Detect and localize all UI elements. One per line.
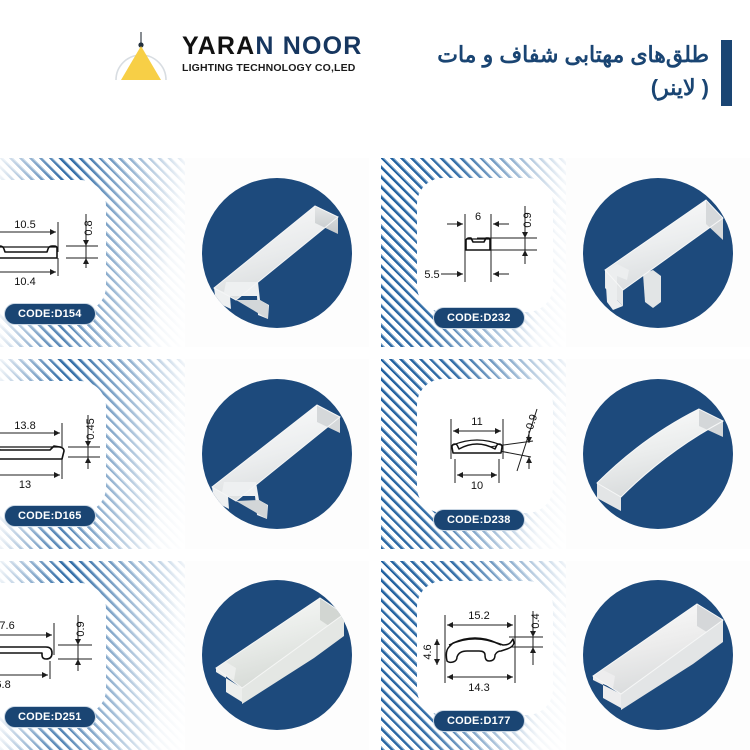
stripe-background: 17.6 16.8 0.9 CODE:D251 <box>0 561 185 750</box>
code-badge-d232: CODE:D232 <box>433 307 525 329</box>
product-photo-d165 <box>185 359 370 548</box>
dim-bottom-label: 10.4 <box>14 276 35 288</box>
page-header: YARAN NOOR LIGHTING TECHNOLOGY CO,LED طل… <box>0 0 750 150</box>
dim-top-label: 6 <box>475 211 481 223</box>
product-catalog-page: YARAN NOOR LIGHTING TECHNOLOGY CO,LED طل… <box>0 0 750 750</box>
dim-bottom-label: 16.8 <box>0 679 11 691</box>
product-card-d154[interactable]: 10.5 10.4 0.8 CODE:D154 <box>0 158 369 347</box>
dim-top-label: 10.5 <box>14 219 35 231</box>
dim-right-label: 0.9 <box>522 212 534 227</box>
code-badge-d165: CODE:D165 <box>4 505 96 527</box>
technical-drawing-d165: 13.8 13 0.45 <box>0 381 106 513</box>
dim-bottom-label: 10 <box>471 480 483 492</box>
dim-right-label: 0.45 <box>85 419 97 440</box>
dim-right-label: 0.8 <box>83 220 95 235</box>
brand-text: YARAN NOOR LIGHTING TECHNOLOGY CO,LED <box>182 34 363 74</box>
code-badge-d251: CODE:D251 <box>4 706 96 728</box>
technical-drawing-d232: 6 5.5 0.9 <box>417 178 553 312</box>
dim-left-label: 4.6 <box>422 644 434 659</box>
technical-drawing-d238: 11 10 0.9 <box>417 379 553 513</box>
code-badge-d177: CODE:D177 <box>433 710 525 732</box>
photo-circle <box>583 580 733 730</box>
product-photo-d238 <box>566 359 750 548</box>
product-card-d238[interactable]: 11 10 0.9 CODE:D238 <box>381 359 750 548</box>
photo-circle <box>583 379 733 529</box>
page-title-line1: طلق‌های مهتابی شفاف و مات <box>437 38 709 71</box>
photo-circle <box>583 178 733 328</box>
product-card-d232[interactable]: 6 5.5 0.9 CODE:D232 <box>381 158 750 347</box>
dim-bottom-label: 14.3 <box>468 682 489 694</box>
page-title: طلق‌های مهتابی شفاف و مات ( لاینر) <box>437 38 709 104</box>
product-card-d177[interactable]: 15.2 14.3 0.4 4.6 CODE:D177 <box>381 561 750 750</box>
dim-bottom-label: 5.5 <box>424 269 439 281</box>
brand-tagline: LIGHTING TECHNOLOGY CO,LED <box>182 63 363 74</box>
brand-name-part2: N NOOR <box>255 32 362 60</box>
page-title-block: طلق‌های مهتابی شفاف و مات ( لاینر) <box>437 38 732 106</box>
code-badge-d154: CODE:D154 <box>4 303 96 325</box>
brand-name: YARAN NOOR <box>182 34 363 59</box>
photo-circle <box>202 178 352 328</box>
code-badge-d238: CODE:D238 <box>433 509 525 531</box>
dim-right-label: 0.9 <box>524 413 540 431</box>
dim-top-label: 15.2 <box>468 610 489 622</box>
product-grid: 10.5 10.4 0.8 CODE:D154 <box>0 150 750 750</box>
stripe-background: 13.8 13 0.45 CODE:D165 <box>0 359 185 548</box>
stripe-background: 6 5.5 0.9 CODE:D232 <box>381 158 566 347</box>
technical-drawing-d154: 10.5 10.4 0.8 <box>0 180 106 312</box>
stripe-background: 10.5 10.4 0.8 CODE:D154 <box>0 158 185 347</box>
brand-lockup: YARAN NOOR LIGHTING TECHNOLOGY CO,LED <box>112 26 363 82</box>
page-title-line2: ( لاینر) <box>437 71 709 104</box>
dim-top-label: 11 <box>471 416 482 428</box>
dim-right-label: 0.4 <box>530 613 542 628</box>
brand-name-part1: YARA <box>182 32 255 60</box>
product-card-d165[interactable]: 13.8 13 0.45 CODE:D165 <box>0 359 369 548</box>
dim-top-label: 17.6 <box>0 620 15 632</box>
stripe-background: 11 10 0.9 CODE:D238 <box>381 359 566 548</box>
product-card-d251[interactable]: 17.6 16.8 0.9 CODE:D251 <box>0 561 369 750</box>
product-photo-d232 <box>566 158 750 347</box>
product-photo-d251 <box>185 561 370 750</box>
pendant-lamp-icon <box>112 26 170 82</box>
photo-circle <box>202 379 352 529</box>
dim-right-label: 0.9 <box>75 621 87 636</box>
product-photo-d177 <box>566 561 750 750</box>
product-photo-d154 <box>185 158 370 347</box>
stripe-background: 15.2 14.3 0.4 4.6 CODE:D177 <box>381 561 566 750</box>
dim-bottom-label: 13 <box>19 479 31 491</box>
title-accent-bar <box>721 40 732 106</box>
technical-drawing-d177: 15.2 14.3 0.4 4.6 <box>417 581 553 715</box>
technical-drawing-d251: 17.6 16.8 0.9 <box>0 583 106 715</box>
dim-top-label: 13.8 <box>14 420 35 432</box>
photo-circle <box>202 580 352 730</box>
